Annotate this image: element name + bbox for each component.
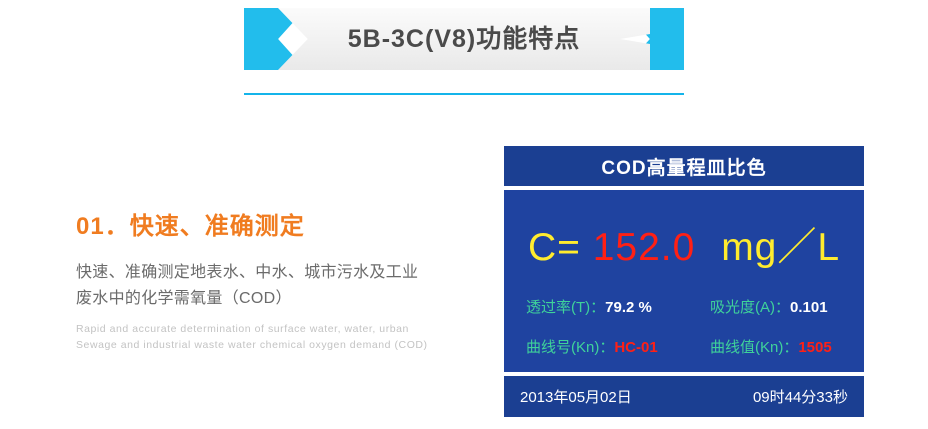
absorbance-value: 0.101 — [790, 299, 828, 316]
feature-body-english: Rapid and accurate determination of surf… — [76, 321, 428, 354]
measurement-row: 透过率(T)：79.2 % 吸光度(A)：0.101 — [504, 296, 864, 317]
curve-row: 曲线号(Kn)：HC-01 曲线值(Kn)：1505 — [504, 336, 864, 357]
section-banner: 5B-3C(V8)功能特点 — [244, 8, 684, 70]
meter-date: 2013年05月02日 — [520, 386, 632, 407]
reading-value: 152.0 — [593, 226, 696, 269]
page-title: 5B-3C(V8)功能特点 — [244, 8, 684, 70]
primary-reading: C= 152.0 mg／L — [504, 216, 864, 272]
curve-value-label: 曲线值(Kn)： — [710, 339, 798, 356]
curve-value-field: 曲线值(Kn)：1505 — [684, 336, 868, 357]
absorbance-field: 吸光度(A)：0.101 — [684, 296, 868, 317]
reading-unit: mg／L — [721, 226, 840, 269]
curve-number-value: HC-01 — [614, 339, 657, 356]
feature-heading: 01．快速、准确测定 — [76, 214, 428, 240]
section-divider — [244, 93, 684, 95]
meter-status-bar: 2013年05月02日 09时44分33秒 — [504, 376, 864, 417]
feature-text-block: 01．快速、准确测定 快速、准确测定地表水、中水、城市污水及工业废水中的化学需氧… — [76, 214, 428, 354]
feature-body-chinese: 快速、准确测定地表水、中水、城市污水及工业废水中的化学需氧量（COD） — [76, 260, 428, 312]
absorbance-label: 吸光度(A)： — [710, 299, 790, 316]
transmittance-value: 79.2 % — [605, 299, 652, 316]
meter-title-bar: COD高量程皿比色 — [504, 146, 864, 186]
reading-prefix: C= — [528, 226, 581, 269]
curve-value-value: 1505 — [798, 339, 831, 356]
transmittance-label: 透过率(T)： — [526, 299, 605, 316]
meter-screen: C= 152.0 mg／L 透过率(T)：79.2 % 吸光度(A)：0.101… — [504, 190, 864, 372]
meter-time: 09时44分33秒 — [753, 386, 848, 407]
curve-number-label: 曲线号(Kn)： — [526, 339, 614, 356]
meter-title-label: COD高量程皿比色 — [601, 153, 766, 180]
transmittance-field: 透过率(T)：79.2 % — [526, 296, 684, 317]
instrument-display-panel: COD高量程皿比色 C= 152.0 mg／L 透过率(T)：79.2 % 吸光… — [504, 146, 864, 417]
curve-number-field: 曲线号(Kn)：HC-01 — [526, 336, 684, 357]
